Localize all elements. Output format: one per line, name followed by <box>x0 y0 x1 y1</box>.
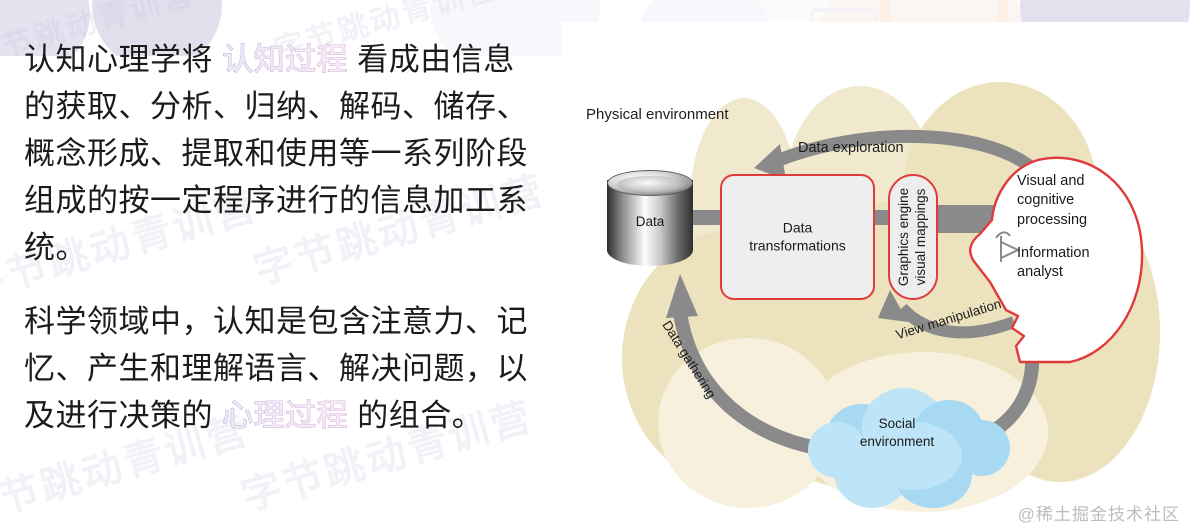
social-label-line2: environment <box>827 433 967 451</box>
graphics-engine-line1: Graphics engine <box>896 188 911 286</box>
data-transformations-line1: Data <box>722 219 873 237</box>
text-column: 认知心理学将 认知过程 看成由信息的获取、分析、归纳、解码、储存、概念形成、提取… <box>24 36 534 439</box>
graphics-engine-label: Graphics engine visual mappings <box>896 188 930 286</box>
graphics-engine-line2: visual mappings <box>913 189 928 286</box>
highlight-mental-process: 心理过程 <box>222 398 348 433</box>
cylinder-top <box>607 170 693 196</box>
head-label-line5: analyst <box>1017 263 1147 282</box>
site-watermark: @稀土掘金技术社区 <box>1018 500 1180 525</box>
paragraph-1: 认知心理学将 认知过程 看成由信息的获取、分析、归纳、解码、储存、概念形成、提取… <box>24 36 534 272</box>
head-label-line2: cognitive <box>1017 191 1147 210</box>
data-store-cylinder: Data <box>607 170 693 274</box>
social-label-line1: Social <box>827 415 967 433</box>
paragraph-1-lead: 认知心理学将 <box>24 42 222 77</box>
data-transformations-box: Data transformations <box>720 174 875 300</box>
paragraph-2-rest: 的组合。 <box>348 398 483 433</box>
graphics-engine-pill: Graphics engine visual mappings <box>888 174 938 300</box>
visualization-pipeline-diagram: Social environment Visual and cognitive … <box>562 22 1194 522</box>
arrow-data-gathering-head <box>666 274 698 318</box>
paragraph-2: 科学领域中，认知是包含注意力、记忆、产生和理解语言、解决问题，以及进行决策的 心… <box>24 298 534 439</box>
head-label-line3: processing <box>1017 211 1147 230</box>
head-label-line4: Information <box>1017 244 1147 263</box>
analyst-head-labels: Visual and cognitive processing Informat… <box>1017 172 1147 282</box>
highlight-cognitive-process: 认知过程 <box>222 42 348 77</box>
head-label-line1: Visual and <box>1017 172 1147 191</box>
social-environment-label: Social environment <box>827 415 967 450</box>
data-exploration-label: Data exploration <box>798 140 904 156</box>
data-transformations-label: Data transformations <box>722 219 873 256</box>
slide-canvas: 字节跳动青训营 字节跳动青训营 字节跳动青训营 字节跳动青训营 字节跳动青训营 … <box>0 0 1194 531</box>
cylinder-top-inner <box>617 176 685 193</box>
data-transformations-line2: transformations <box>722 237 873 255</box>
physical-environment-label: Physical environment <box>586 106 729 123</box>
data-store-label: Data <box>607 214 693 229</box>
